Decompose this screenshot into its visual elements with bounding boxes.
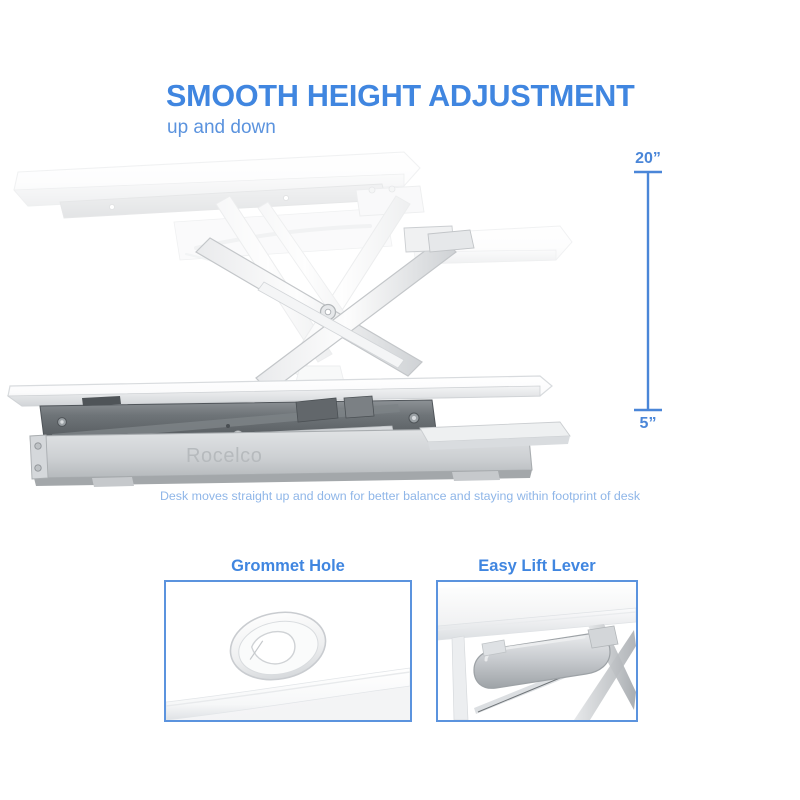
feature-title-easy-lift-lever: Easy Lift Lever [436, 556, 638, 576]
dimension-bottom-label: 5” [640, 415, 657, 432]
feature-panel-grommet-hole: Grommet Hole [164, 556, 412, 722]
brand-wordmark: Rocelco [186, 445, 262, 467]
raised-desk-ghost [14, 152, 572, 382]
dimension-top-label: 20” [635, 150, 661, 167]
feature-panel-easy-lift-lever: Easy Lift Lever [436, 556, 638, 722]
feature-title-grommet-hole: Grommet Hole [164, 556, 412, 576]
hero-caption: Desk moves straight up and down for bett… [0, 489, 800, 503]
height-adjustment-diagram: Rocelco 20” 5” [0, 130, 800, 490]
feature-image-easy-lift-lever [436, 580, 638, 722]
height-dimension-callout: 20” 5” [634, 150, 662, 432]
feature-image-grommet-hole [164, 580, 412, 722]
product-illustration: Rocelco 20” 5” [0, 130, 800, 490]
page-title: SMOOTH HEIGHT ADJUSTMENT [166, 79, 635, 114]
